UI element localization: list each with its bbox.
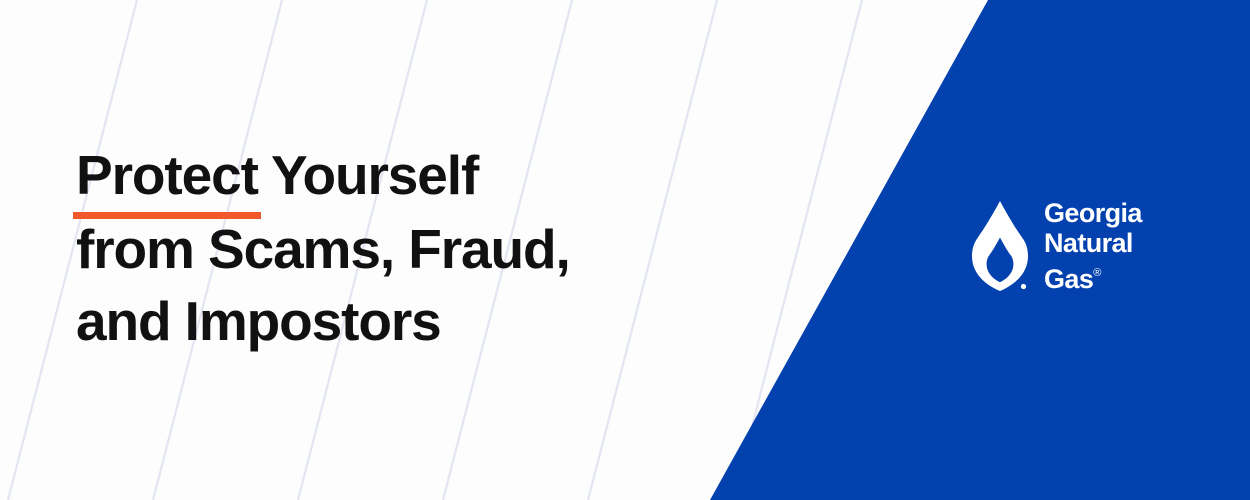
logo-wordmark-gas-text: Gas	[1044, 264, 1093, 294]
gng-flame-icon	[972, 201, 1028, 291]
headline-line-1: Protect Yourself	[76, 139, 736, 213]
headline-emphasis-protect: Protect	[76, 139, 258, 213]
headline-block: Protect Yourself from Scams, Fraud, and …	[76, 139, 736, 357]
promo-banner: Protect Yourself from Scams, Fraud, and …	[0, 0, 1250, 500]
logo-wordmark-line-gas: Gas®	[1044, 258, 1142, 294]
headline-line-1-rest: Yourself	[258, 144, 478, 206]
headline-line-2: from Scams, Fraud,	[76, 213, 736, 285]
headline-line-3: and Impostors	[76, 285, 736, 357]
registered-trademark-icon: ®	[1093, 267, 1101, 279]
logo-wordmark-line-natural: Natural	[1044, 228, 1142, 258]
logo-wordmark: Georgia Natural Gas®	[1044, 198, 1142, 294]
logo-wordmark-line-georgia: Georgia	[1044, 198, 1142, 228]
georgia-natural-gas-logo[interactable]: Georgia Natural Gas®	[972, 198, 1142, 294]
